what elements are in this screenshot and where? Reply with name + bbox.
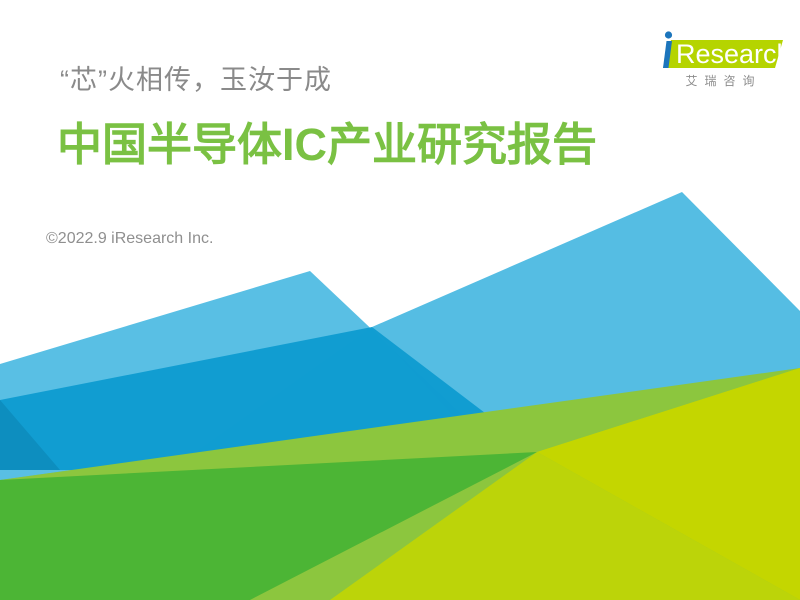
report-cover-page: “芯”火相传，玉汝于成 中国半导体IC产业研究报告 ©2022.9 iResea… xyxy=(0,0,800,600)
logo-chinese-name: 艾瑞咨询 xyxy=(659,72,781,89)
logo-wordmark-text: Research xyxy=(676,39,785,69)
iresearch-wordmark-icon: Research xyxy=(655,28,785,76)
page-title: 中国半导体IC产业研究报告 xyxy=(57,118,597,172)
iresearch-logo: Research 艾瑞咨询 xyxy=(655,28,785,100)
logo-i-dot-icon xyxy=(665,31,672,38)
copyright-notice: ©2022.9 iResearch Inc. xyxy=(46,229,213,249)
cover-subtitle: “芯”火相传，玉汝于成 xyxy=(60,63,332,97)
